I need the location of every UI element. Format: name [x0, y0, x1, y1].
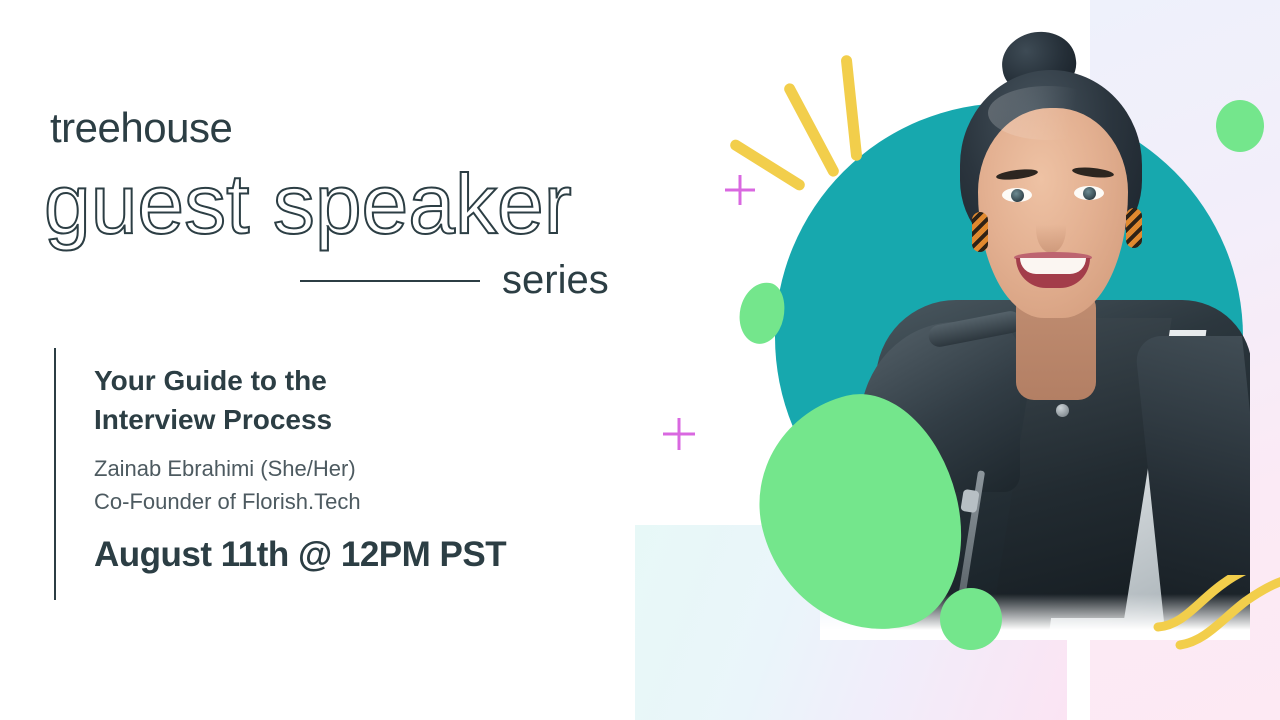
magenta-plus-icon-bottom	[663, 418, 695, 450]
series-label: series	[502, 258, 609, 303]
iris-left	[1011, 189, 1024, 202]
green-circle-bottom	[940, 588, 1002, 650]
brand-name: treehouse	[50, 104, 232, 152]
green-circle-top	[1216, 100, 1264, 152]
promo-slide: treehouse guest speaker series Your Guid…	[0, 0, 1280, 720]
event-datetime: August 11th @ 12PM PST	[94, 535, 506, 575]
hair-highlight	[988, 86, 1108, 140]
eye-right	[1074, 186, 1104, 200]
text-content: treehouse guest speaker series Your Guid…	[0, 0, 660, 720]
teeth	[1020, 258, 1086, 274]
session-details: Your Guide to the Interview Process Zain…	[54, 348, 506, 600]
session-title-line-1: Your Guide to the	[94, 362, 506, 401]
speaker-role: Co-Founder of Florish.Tech	[94, 485, 506, 518]
session-title: Your Guide to the Interview Process	[94, 362, 506, 439]
iris-right	[1083, 187, 1096, 200]
magenta-plus-icon-top	[725, 175, 755, 205]
series-row: series	[300, 258, 609, 303]
earring-left	[972, 212, 988, 252]
headline-outline: guest speaker	[44, 160, 572, 248]
nose	[1036, 205, 1066, 253]
series-divider-rule	[300, 280, 480, 282]
speaker-name: Zainab Ebrahimi (She/Her)	[94, 452, 506, 485]
eye-left	[1002, 188, 1032, 202]
earring-right	[1126, 208, 1142, 248]
yellow-wave-strokes-icon	[1150, 575, 1280, 720]
jacket-zipper-pull	[960, 489, 979, 513]
jacket-stud	[1056, 404, 1069, 417]
session-title-line-2: Interview Process	[94, 401, 506, 440]
